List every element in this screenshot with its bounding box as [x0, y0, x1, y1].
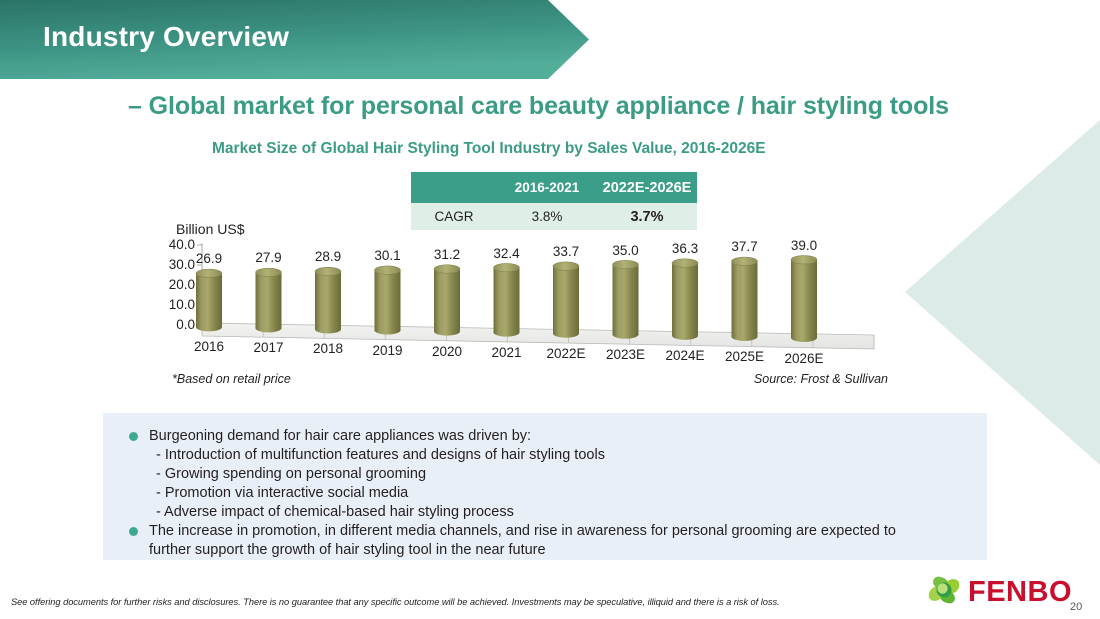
chart-category-label: 2018	[294, 341, 362, 356]
chart-bar-value: 37.7	[719, 239, 771, 254]
footnote-source: Source: Frost & Sullivan	[754, 372, 888, 386]
chart-bar-cap	[256, 268, 282, 276]
cagr-header-2016-2021: 2016-2021	[497, 172, 597, 203]
cagr-header-2022-2026: 2022E-2026E	[597, 172, 697, 203]
chart-bar-value: 35.0	[600, 243, 652, 258]
chart-bar-cap	[672, 259, 698, 267]
key-points-box: Burgeoning demand for hair care applianc…	[103, 413, 987, 560]
cagr-table: 2016-2021 2022E-2026E CAGR 3.8% 3.7%	[411, 172, 697, 230]
chart-bar-value: 33.7	[540, 244, 592, 259]
bullet-sub-item-1: - Introduction of multifunction features…	[156, 446, 605, 465]
chart-bar-cap	[613, 260, 639, 268]
chart-bar-value: 32.4	[481, 246, 533, 261]
chart-y-tick-label: 10.0	[147, 297, 195, 312]
chart-y-tick-label: 30.0	[147, 257, 195, 272]
slide-subtitle: – Global market for personal care beauty…	[128, 92, 949, 121]
fenbo-logo: FENBO	[918, 570, 1078, 615]
chart-category-label: 2017	[235, 340, 303, 355]
chart-category-label: 2020	[413, 344, 481, 359]
chart-bar-cap	[732, 257, 758, 265]
chart-bar-value: 27.9	[243, 250, 295, 265]
chart-bar-value: 39.0	[778, 238, 830, 253]
chart-y-tick-label: 40.0	[147, 237, 195, 252]
chart-bar	[791, 260, 817, 342]
chart-bar-cap	[494, 263, 520, 271]
chart-bar-cap	[553, 262, 579, 270]
chart-category-label: 2025E	[711, 349, 779, 364]
fenbo-logo-mark	[928, 574, 960, 606]
page-title: Industry Overview	[43, 21, 289, 53]
cagr-header-blank	[411, 172, 497, 203]
bullet-sub-item-4: - Adverse impact of chemical-based hair …	[156, 503, 514, 522]
bullet-item-2: The increase in promotion, in different …	[129, 522, 896, 541]
chart-bar-cap	[791, 256, 817, 264]
bullet-item-2-text-line1: The increase in promotion, in different …	[149, 522, 896, 541]
chart-bar	[494, 268, 520, 337]
cagr-row-label: CAGR	[411, 203, 497, 230]
bullet-item-2-text-line2: further support the growth of hair styli…	[149, 541, 546, 560]
chart-bar	[613, 265, 639, 339]
chart-bar-value: 31.2	[421, 247, 473, 262]
cagr-value-2022-2026: 3.7%	[597, 203, 697, 230]
cagr-table-header-row: 2016-2021 2022E-2026E	[411, 172, 697, 203]
chart-bar	[732, 261, 758, 341]
chart-category-label: 2023E	[592, 347, 660, 362]
chart-category-label: 2016	[175, 339, 243, 354]
chart-bar	[196, 273, 222, 331]
chart-bar	[553, 266, 579, 338]
bar-chart: 26.927.928.930.131.232.433.735.036.337.7…	[165, 218, 905, 368]
fenbo-logo-wordmark: FENBO	[968, 576, 1072, 608]
chart-category-label: 2024E	[651, 348, 719, 363]
chart-title: Market Size of Global Hair Styling Tool …	[212, 140, 766, 158]
bullet-sub-item-3: - Promotion via interactive social media	[156, 484, 408, 503]
bullet-item-1: Burgeoning demand for hair care applianc…	[129, 427, 531, 446]
bullet-dot-icon	[129, 527, 138, 536]
chart-bar	[434, 269, 460, 336]
page-number: 20	[1070, 601, 1082, 613]
chart-bar-cap	[375, 266, 401, 274]
chart-axis-unit-label: Billion US$	[176, 221, 244, 237]
chart-bar-value: 30.1	[362, 248, 414, 263]
footnote-retail-price: *Based on retail price	[172, 372, 291, 386]
chart-bar	[375, 270, 401, 334]
chart-bar-cap	[196, 269, 222, 277]
chart-category-label: 2026E	[770, 351, 838, 366]
chart-bar-cap	[315, 267, 341, 275]
chart-bar-value: 28.9	[302, 249, 354, 264]
chart-bar	[672, 263, 698, 340]
legal-disclaimer: See offering documents for further risks…	[11, 597, 780, 607]
bullet-sub-item-2: - Growing spending on personal grooming	[156, 465, 426, 484]
cagr-value-2016-2021: 3.8%	[497, 203, 597, 230]
cagr-table-row: CAGR 3.8% 3.7%	[411, 203, 697, 230]
chart-category-label: 2019	[354, 343, 422, 358]
chart-y-tick-label: 20.0	[147, 277, 195, 292]
chart-bar-cap	[434, 265, 460, 273]
chart-bar	[256, 272, 282, 332]
bullet-item-1-text: Burgeoning demand for hair care applianc…	[149, 427, 531, 446]
chart-category-label: 2021	[473, 345, 541, 360]
chart-category-label: 2022E	[532, 346, 600, 361]
chart-y-tick-label: 0.0	[147, 317, 195, 332]
chart-bar	[315, 271, 341, 333]
bullet-dot-icon	[129, 432, 138, 441]
chart-bar-value: 36.3	[659, 241, 711, 256]
